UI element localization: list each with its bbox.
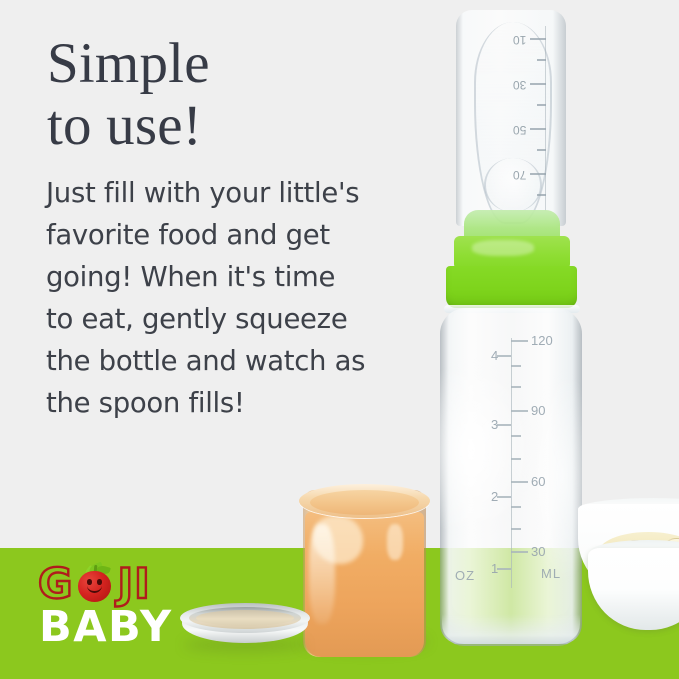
scale-tick (497, 424, 511, 426)
scale-label-70: 70 (513, 169, 526, 181)
scale-label-ml-90: 90 (531, 404, 545, 417)
silicone-collar-base (446, 266, 577, 308)
jar-puree-highlight-2 (387, 524, 403, 560)
scale-tick (511, 506, 521, 508)
upper-measurement-scale: 10 30 50 70 (488, 26, 546, 211)
scale-tick (530, 38, 546, 40)
scale-label-30: 30 (513, 79, 526, 91)
scale-tick (530, 128, 546, 130)
baby-food-jar (299, 472, 430, 657)
scale-tick (497, 568, 511, 570)
scale-tick (537, 149, 546, 151)
silicone-collar-highlight (472, 240, 534, 256)
unit-label-oz: OZ (455, 568, 475, 583)
scale-tick (537, 59, 546, 61)
logo-wordmark-goji: G JI (38, 562, 151, 606)
logo-wordmark-baby: BABY (39, 606, 173, 649)
scale-label-oz-1: 1 (491, 562, 498, 575)
scale-tick (511, 528, 521, 530)
bottle-base-ring (442, 614, 580, 646)
scale-label-50: 50 (513, 124, 526, 136)
jar-lid (180, 603, 310, 651)
scale-tick (511, 410, 528, 412)
scale-tick (511, 365, 521, 367)
logo-letters-ji: JI (117, 563, 150, 605)
unit-label-ml: ML (541, 566, 561, 581)
product-lifestyle-image: 10 30 50 70 120 4 (0, 0, 679, 679)
page-headline: Simple to use! (47, 33, 377, 157)
scale-label-oz-3: 3 (491, 418, 498, 431)
lower-measurement-scale: 120 4 90 3 60 2 30 1 (483, 338, 573, 588)
scale-label-ml-60: 60 (531, 475, 545, 488)
scale-label-ml-30: 30 (531, 545, 545, 558)
lid-inner-seal (196, 610, 294, 626)
scale-tick (511, 386, 521, 388)
scale-tick (497, 355, 511, 357)
scale-tick (537, 104, 546, 106)
scale-tick (511, 551, 528, 553)
scale-label-oz-2: 2 (491, 490, 498, 503)
berry-eye-right (97, 579, 102, 585)
page-body-copy: Just fill with your little's favorite fo… (46, 172, 366, 424)
scale-tick (511, 340, 528, 342)
jar-mouth-opening (310, 490, 419, 515)
logo-letter-g: G (38, 563, 73, 605)
scale-tick (511, 481, 528, 483)
scale-tick (530, 173, 546, 175)
feeder-bottle: 10 30 50 70 120 4 (428, 8, 594, 648)
scale-tick (530, 83, 546, 85)
jar-glass-highlight (309, 524, 335, 624)
scale-rail (545, 26, 546, 211)
scale-label-ml-120: 120 (531, 334, 553, 347)
scale-tick (511, 435, 521, 437)
scale-label-10: 10 (513, 34, 526, 46)
scale-tick (497, 496, 511, 498)
scale-tick (537, 194, 546, 196)
scale-label-oz-4: 4 (491, 349, 498, 362)
goji-berry-smiley-icon (75, 564, 115, 604)
brand-logo: G JI BABY (38, 562, 188, 657)
scale-tick (511, 458, 521, 460)
berry-eye-left (87, 579, 92, 585)
